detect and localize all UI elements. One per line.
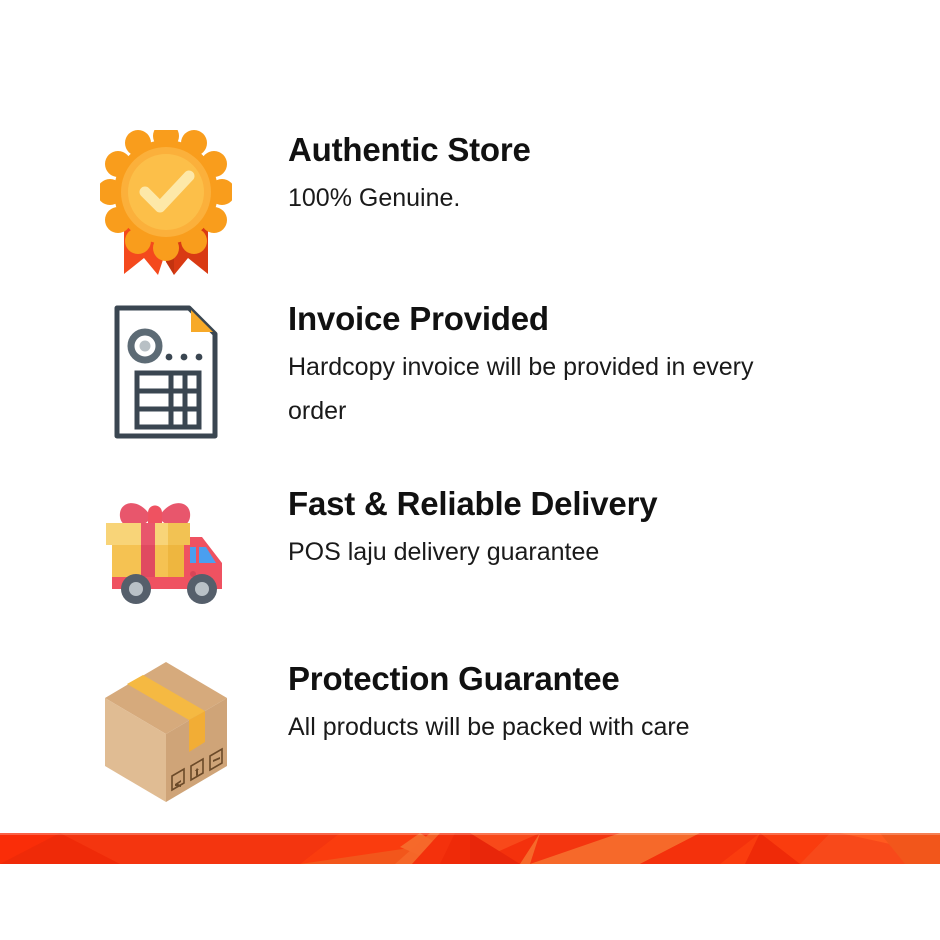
feature-description: Hardcopy invoice will be provided in eve…	[288, 345, 804, 433]
feature-title: Authentic Store	[288, 132, 531, 168]
feature-item-invoice-provided: Invoice Provided Hardcopy invoice will b…	[98, 297, 804, 447]
feature-title: Invoice Provided	[288, 301, 804, 337]
feature-title: Protection Guarantee	[288, 661, 690, 697]
feature-title: Fast & Reliable Delivery	[288, 486, 657, 522]
feature-item-fast-delivery: Fast & Reliable Delivery POS laju delive…	[98, 482, 657, 632]
delivery-truck-icon	[98, 482, 234, 632]
feature-text-block: Invoice Provided Hardcopy invoice will b…	[288, 297, 804, 433]
bottom-whitespace	[0, 864, 940, 940]
invoice-document-icon	[98, 297, 234, 447]
feature-description: All products will be packed with care	[288, 705, 690, 749]
feature-item-authentic-store: Authentic Store 100% Genuine.	[98, 128, 531, 278]
feature-description: POS laju delivery guarantee	[288, 530, 657, 574]
feature-text-block: Fast & Reliable Delivery POS laju delive…	[288, 482, 657, 574]
feature-description: 100% Genuine.	[288, 176, 531, 220]
decorative-polygon-banner	[0, 833, 940, 864]
feature-text-block: Protection Guarantee All products will b…	[288, 657, 690, 749]
package-box-icon	[98, 657, 234, 807]
feature-item-protection-guarantee: Protection Guarantee All products will b…	[98, 657, 690, 807]
feature-text-block: Authentic Store 100% Genuine.	[288, 128, 531, 220]
page-root: Authentic Store 100% Genuine.	[0, 0, 940, 940]
award-badge-icon	[98, 128, 234, 278]
